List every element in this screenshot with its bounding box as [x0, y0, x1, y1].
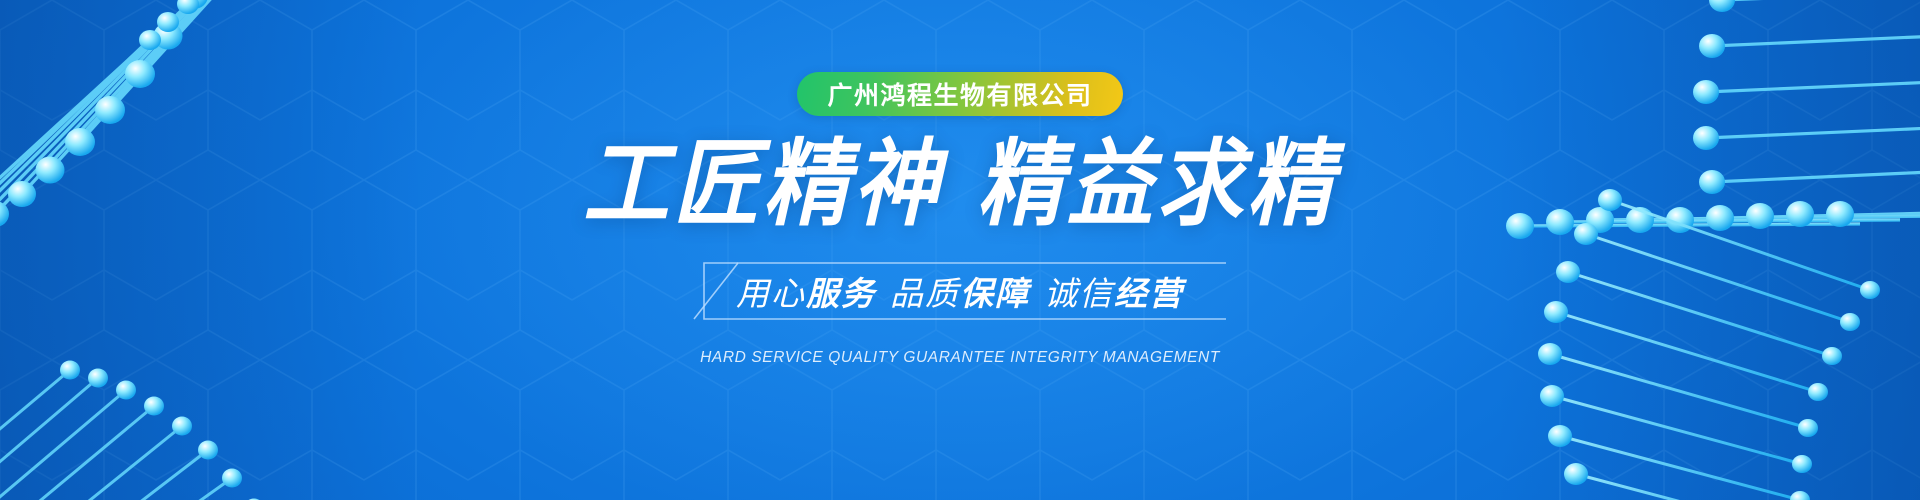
subtitle-seg-1: 服务	[806, 267, 876, 315]
headline: 工匠精神精益求精	[583, 136, 1337, 234]
subtitle-seg-3: 保障	[960, 267, 1030, 315]
headline-part-2: 精益求精	[977, 132, 1337, 238]
company-name-badge: 广州鸿程生物有限公司	[797, 72, 1122, 116]
subtitle-frame: 用心服务品质保障诚信经营	[690, 259, 1230, 323]
subtitle-text: 用心服务品质保障诚信经营	[690, 259, 1230, 323]
subtitle-seg-2: 品质	[890, 267, 960, 315]
subtitle-seg-5: 经营	[1114, 267, 1184, 315]
company-name-text: 广州鸿程生物有限公司	[827, 76, 1092, 112]
banner-content: 广州鸿程生物有限公司 工匠精神精益求精 用心服务品质保障诚信经营 HARD SE…	[0, 0, 1920, 500]
subtitle-seg-0: 用心	[736, 267, 806, 315]
english-tagline: HARD SERVICE QUALITY GUARANTEE INTEGRITY…	[700, 349, 1220, 367]
promo-banner: 广州鸿程生物有限公司 工匠精神精益求精 用心服务品质保障诚信经营 HARD SE…	[0, 0, 1920, 500]
subtitle-seg-4: 诚信	[1044, 267, 1114, 315]
headline-part-1: 工匠精神	[583, 132, 943, 238]
